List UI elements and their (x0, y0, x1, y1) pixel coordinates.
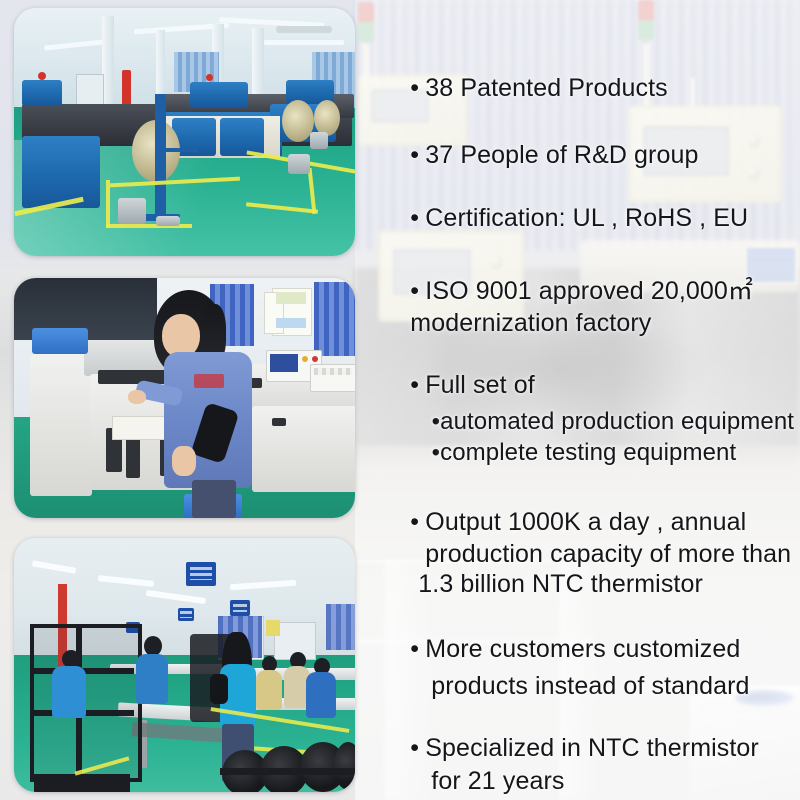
photo-factory-production-hall (14, 8, 355, 256)
photo3-wire-reel (334, 742, 355, 790)
photo2-content (14, 278, 355, 518)
photo3-worker-sleeve (210, 674, 228, 704)
photo2-machine-block (126, 436, 140, 478)
photo2-worker-legs (192, 480, 236, 518)
photo3-reel-axle (220, 768, 355, 775)
photo1-floor-spool (156, 216, 180, 226)
photo1-blue-post (155, 94, 166, 220)
photo1-cabinet-door (220, 118, 264, 156)
photo2-panel-screen (270, 354, 298, 372)
photo3-content (14, 538, 355, 792)
bullet-marker: • (410, 73, 425, 103)
sub-bullet-marker: • (432, 439, 441, 466)
bullet-text: 1.3 billion NTC thermistor (418, 570, 703, 598)
photo3-window-curtain (326, 604, 355, 650)
photo2-uniform-logo (194, 374, 224, 388)
photo-worker-at-machine (14, 278, 355, 518)
photo1-blue-head (22, 80, 62, 106)
photo1-lane-marking (106, 180, 110, 228)
slide-canvas: •38 Patented Products •37 People of R&D … (0, 0, 800, 800)
photo2-worker-hand (172, 446, 196, 476)
photo2-notice-band (276, 318, 306, 328)
photo3-worker-body (52, 666, 86, 718)
bullet-text: products instead of standard (431, 672, 749, 700)
photo1-floor-spool (288, 154, 310, 174)
bullet-text: 37 People of R&D group (425, 141, 698, 169)
bullet-list: •38 Patented Products •37 People of R&D … (360, 0, 800, 800)
photo1-floor-spool (310, 132, 328, 149)
bullet-marker: • (410, 203, 425, 233)
photo2-machine-handle (272, 418, 286, 426)
bullet-text: for 21 years (431, 767, 564, 795)
photo1-alarm-light (206, 74, 213, 81)
photo1-post-arm (156, 148, 198, 152)
photo3-worker-body (256, 670, 282, 710)
photo2-worker-hand (128, 390, 146, 404)
photo3-blue-sign (230, 600, 250, 616)
photo2-breaker-row (314, 368, 352, 375)
photo3-worker-body (136, 654, 168, 704)
photo1-floor-spool (118, 198, 146, 224)
photo3-blue-sign (186, 562, 216, 586)
photo1-content (14, 8, 355, 256)
photo1-ceiling-fan (276, 26, 332, 33)
photo1-light-tube (264, 40, 344, 45)
photo2-machine-rail (98, 370, 170, 384)
bullet-text: 38 Patented Products (425, 74, 667, 102)
photo2-notice-band (276, 292, 306, 304)
photo2-indicator-light (312, 356, 318, 362)
bullet-item-8-cont: for 21 years (389, 736, 565, 800)
bullet-text: Certification: UL , RoHS , EU (425, 204, 748, 232)
photo2-indicator-light (302, 356, 308, 362)
photo3-blue-sign (178, 608, 194, 621)
bullet-marker: • (410, 140, 425, 170)
photo1-blue-head (190, 82, 248, 108)
photo1-alarm-light (38, 72, 46, 80)
photo2-right-machine-body (252, 406, 355, 492)
photo1-wire-reel (314, 100, 340, 136)
photo3-warning-sign (266, 620, 280, 636)
photo-assembly-line (14, 538, 355, 792)
photo1-wall-box (76, 74, 104, 108)
photo2-curtain (314, 282, 355, 356)
photo1-blue-machine (22, 136, 100, 208)
bullet-text: modernization factory (410, 309, 651, 337)
sub-bullet-text: complete testing equipment (440, 439, 736, 466)
photo3-worker-body (306, 672, 336, 718)
photo3-worker-head (144, 636, 162, 656)
photo1-fire-pipe (122, 70, 131, 108)
photo2-left-cabinet (30, 354, 92, 496)
photo2-blue-crate (32, 328, 88, 354)
photo1-column (156, 30, 165, 100)
photo3-rack-base (34, 774, 130, 792)
